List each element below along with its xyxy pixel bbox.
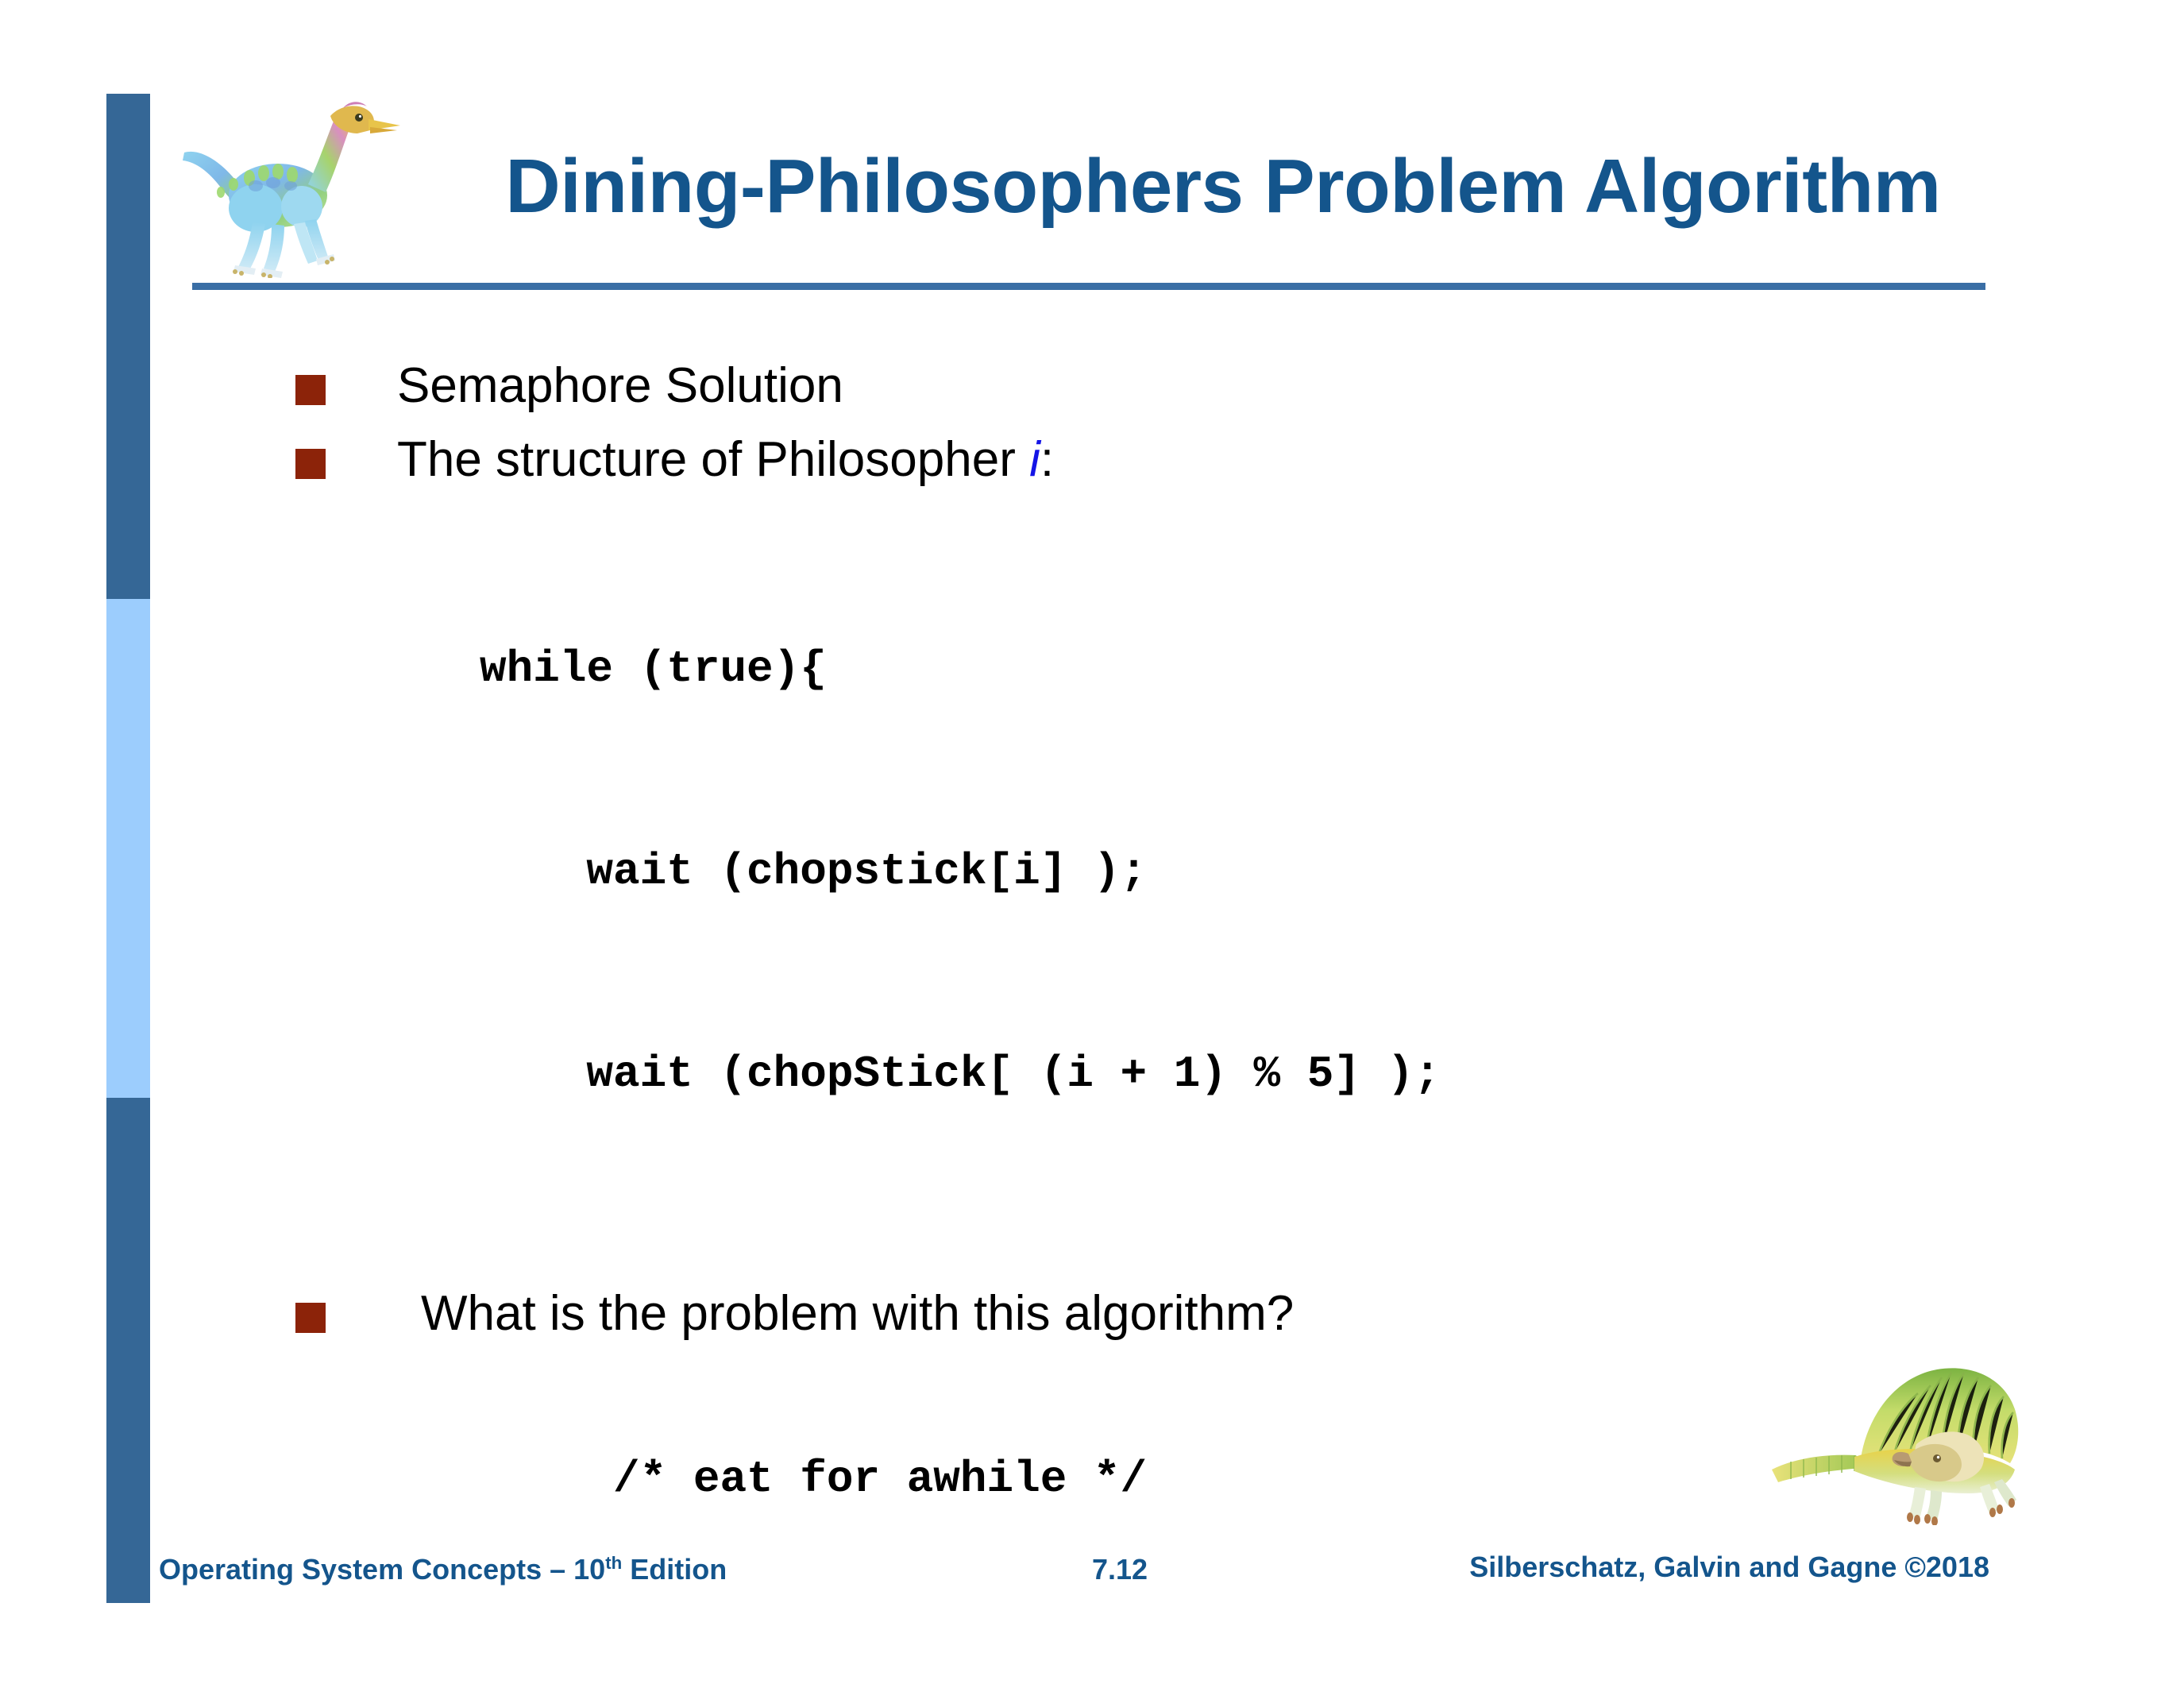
- footer-book-title-main: Operating System Concepts – 10: [159, 1553, 605, 1586]
- bullet-label: The structure of Philosopher i:: [397, 433, 1054, 487]
- footer-book-title: Operating System Concepts – 10th Edition: [159, 1553, 727, 1586]
- footer-edition-tail: Edition: [622, 1553, 727, 1586]
- code-line: [480, 1648, 1494, 1688]
- code-line: /* eat for awhile */: [480, 1446, 1494, 1513]
- bullet-label-suffix: :: [1040, 432, 1054, 487]
- bullet-square-icon: [295, 1303, 326, 1333]
- bullet-label-prefix: The structure of Philosopher: [397, 432, 1029, 487]
- bullet-item-philosopher-structure: The structure of Philosopher i:: [295, 433, 1054, 487]
- footer-edition-ordinal: th: [605, 1553, 622, 1573]
- code-listing: while (true){ wait (chopstick[i] ); wait…: [480, 500, 1494, 1688]
- bullet-square-icon: [295, 449, 326, 479]
- bullet-item-semaphore-solution: Semaphore Solution: [295, 359, 843, 413]
- bullet-square-icon: [295, 375, 326, 405]
- bullet-label-variable: i: [1029, 432, 1040, 487]
- code-line: wait (chopstick[i] );: [480, 838, 1494, 906]
- code-line: while (true){: [480, 635, 1494, 703]
- slide-number: 7.12: [1001, 1553, 1239, 1586]
- footer-copyright: Silberschatz, Galvin and Gagne ©2018: [1469, 1551, 1989, 1584]
- bullet-label: What is the problem with this algorithm?: [421, 1287, 1294, 1341]
- bullet-item-problem-question: What is the problem with this algorithm?: [295, 1287, 1294, 1341]
- slide-footer: Operating System Concepts – 10th Edition…: [0, 1541, 2184, 1636]
- slide-canvas: Dining-Philosophers Problem Algorithm Se…: [0, 0, 2184, 1688]
- dinosaur-dimetrodon-icon: [1767, 1350, 2077, 1525]
- bullet-label: Semaphore Solution: [397, 359, 843, 413]
- code-line: wait (chopStick[ (i + 1) % 5] );: [480, 1041, 1494, 1108]
